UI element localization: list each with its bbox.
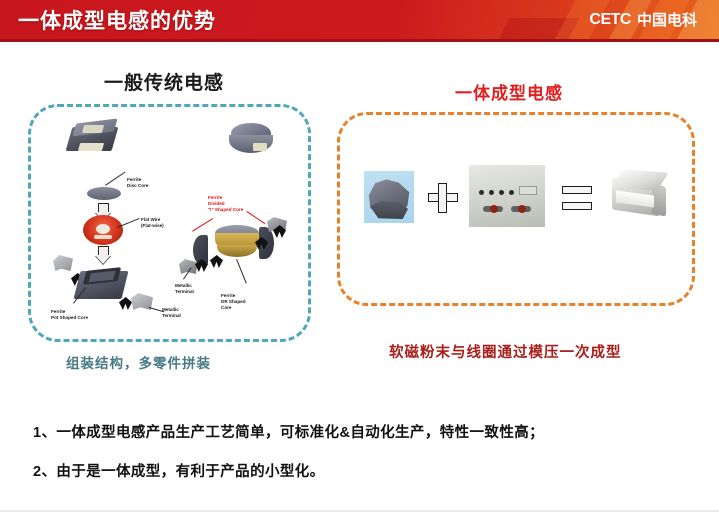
ferrite-pot-core-part — [77, 265, 129, 303]
banner-underline — [0, 39, 719, 42]
traditional-inductor-panel: Ferrite Disc Core Flat Wire (Flat-wise) … — [28, 104, 311, 342]
molded-inductor-panel — [337, 112, 695, 306]
right-section-caption: 软磁粉末与线圈通过模压一次成型 — [389, 341, 622, 362]
diagram-label: Ferrite Pot Shaped Core — [51, 309, 88, 321]
equals-icon — [562, 183, 592, 213]
leader-line — [246, 211, 265, 224]
metallic-terminal-part — [53, 255, 73, 271]
molded-inductor-photo — [608, 167, 670, 223]
bullet-item-1: 1、一体成型电感产品生产工艺简单，可标准化&自动化生产，特性一致性高； — [33, 421, 544, 442]
exploded-view-diagram: Ferrite Disc Core Flat Wire (Flat-wise) … — [31, 107, 308, 339]
leader-line — [236, 259, 247, 283]
logo-wordmark: CETC — [589, 11, 631, 29]
bullet-item-2: 2、由于是一体成型，有利于产品的小型化。 — [33, 460, 325, 481]
diagram-label: Ferrite Divided "I" Shaped Core — [208, 195, 243, 213]
flat-wire-coil-part — [83, 215, 123, 245]
leader-line — [192, 218, 213, 232]
ferrite-dr-core-part — [215, 225, 261, 261]
diagram-label: Ferrite Disc Core — [127, 177, 148, 189]
diagram-label: Ferrite DR Shaped Core — [221, 293, 246, 311]
footer-divider — [0, 510, 719, 512]
left-section-caption: 组装结构，多零件拼装 — [66, 352, 211, 372]
coil-photo — [469, 165, 545, 227]
left-section-heading: 一般传统电感 — [104, 68, 224, 95]
diagram-label: Metallic Terminal — [175, 283, 194, 295]
diagram-label: Flat Wire (Flat-wise) — [141, 217, 164, 229]
process-formula — [340, 115, 692, 303]
round-inductor-photo — [227, 121, 277, 159]
ferrite-disc-core-part — [87, 187, 121, 200]
logo-chinese-name: 中国电科 — [637, 9, 697, 30]
leader-line — [105, 172, 125, 186]
plus-icon — [428, 183, 458, 213]
cetc-logo: CETC 中国电科 — [589, 9, 697, 30]
soft-magnetic-powder-photo — [364, 171, 414, 223]
title-banner: 一体成型电感的优势 CETC 中国电科 — [0, 0, 719, 39]
page-title: 一体成型电感的优势 — [18, 5, 216, 35]
square-inductor-photo — [67, 119, 121, 155]
right-section-heading: 一体成型电感 — [455, 79, 563, 104]
diagram-label: Metallic Terminal — [162, 307, 181, 319]
